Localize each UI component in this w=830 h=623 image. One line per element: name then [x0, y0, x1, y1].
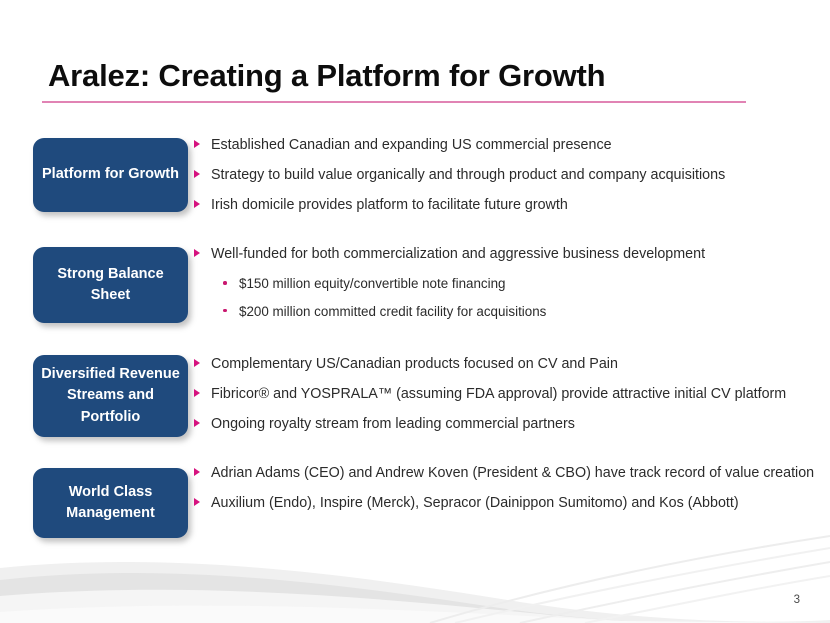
- sub-bullet-text: $150 million equity/convertible note fin…: [239, 276, 506, 291]
- content-sections: Platform for Growth Established Canadian…: [0, 0, 830, 623]
- bullet-item: Adrian Adams (CEO) and Andrew Koven (Pre…: [194, 464, 824, 483]
- bullet-text: Irish domicile provides platform to faci…: [211, 197, 568, 213]
- triangle-bullet-icon: [194, 200, 200, 208]
- bullet-text: Adrian Adams (CEO) and Andrew Koven (Pre…: [211, 465, 814, 481]
- bullet-item: Well-funded for both commercialization a…: [194, 245, 824, 264]
- bullet-item: Irish domicile provides platform to faci…: [194, 196, 824, 215]
- presentation-slide: Aralez: Creating a Platform for Growth P…: [0, 0, 830, 623]
- bullet-item: Fibricor® and YOSPRALA™ (assuming FDA ap…: [194, 385, 824, 404]
- triangle-bullet-icon: [194, 419, 200, 427]
- bullet-list: Established Canadian and expanding US co…: [194, 136, 824, 226]
- bullet-item: Established Canadian and expanding US co…: [194, 136, 824, 155]
- triangle-bullet-icon: [194, 359, 200, 367]
- section-label-box: World Class Management: [33, 468, 188, 538]
- bullet-text: Strategy to build value organically and …: [211, 167, 725, 183]
- bullet-item: Ongoing royalty stream from leading comm…: [194, 415, 824, 434]
- section-label-box: Platform for Growth: [33, 138, 188, 212]
- bullet-list: Complementary US/Canadian products focus…: [194, 355, 824, 445]
- bullet-text: Auxilium (Endo), Inspire (Merck), Seprac…: [211, 495, 739, 511]
- triangle-bullet-icon: [194, 498, 200, 506]
- bullet-list: Adrian Adams (CEO) and Andrew Koven (Pre…: [194, 464, 824, 524]
- sub-bullet-item: $200 million committed credit facility f…: [194, 303, 824, 320]
- triangle-bullet-icon: [194, 170, 200, 178]
- bullet-list: Well-funded for both commercialization a…: [194, 245, 824, 330]
- sub-bullet-item: $150 million equity/convertible note fin…: [194, 275, 824, 292]
- page-number: 3: [794, 594, 800, 606]
- triangle-bullet-icon: [194, 140, 200, 148]
- dot-bullet-icon: [223, 281, 227, 285]
- bullet-text: Complementary US/Canadian products focus…: [211, 356, 618, 372]
- triangle-bullet-icon: [194, 249, 200, 257]
- bullet-text: Established Canadian and expanding US co…: [211, 137, 612, 153]
- dot-bullet-icon: [223, 309, 227, 313]
- bullet-text: Well-funded for both commercialization a…: [211, 246, 705, 262]
- bullet-text: Ongoing royalty stream from leading comm…: [211, 416, 575, 432]
- bullet-text: Fibricor® and YOSPRALA™ (assuming FDA ap…: [211, 386, 786, 402]
- sub-bullet-text: $200 million committed credit facility f…: [239, 304, 546, 319]
- section-label-box: Diversified Revenue Streams and Portfoli…: [33, 355, 188, 437]
- bullet-item: Strategy to build value organically and …: [194, 166, 824, 185]
- triangle-bullet-icon: [194, 389, 200, 397]
- section-label-box: Strong Balance Sheet: [33, 247, 188, 323]
- bullet-item: Auxilium (Endo), Inspire (Merck), Seprac…: [194, 494, 824, 513]
- triangle-bullet-icon: [194, 468, 200, 476]
- bullet-item: Complementary US/Canadian products focus…: [194, 355, 824, 374]
